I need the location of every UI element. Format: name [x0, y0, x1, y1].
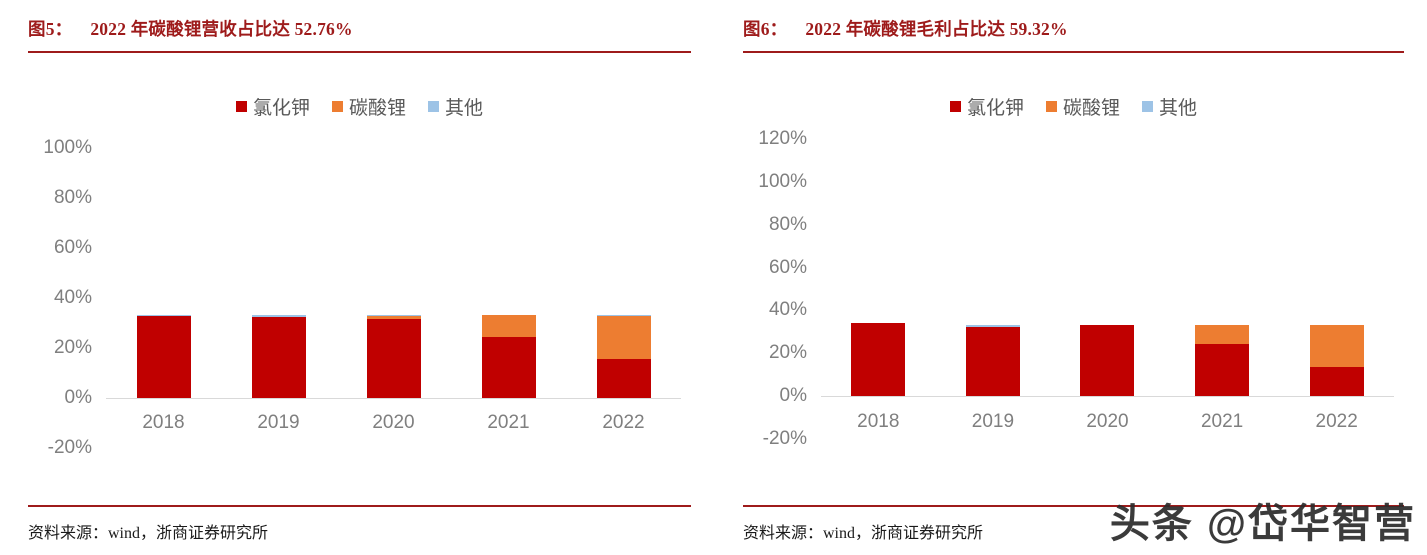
legend-label: 氯化钾 [967, 93, 1024, 120]
legend-item-other[interactable]: 其他 [428, 93, 483, 120]
bar-slot-2020 [1050, 133, 1165, 433]
bar-group [821, 133, 1394, 433]
bar-slot-2018 [821, 133, 936, 433]
figure-title: 2022 年碳酸锂营收占比达 52.76% [90, 16, 352, 41]
y-tick: 100% [43, 137, 92, 159]
bar-segment-kcl [1195, 344, 1249, 396]
chart-area: 氯化钾 碳酸锂 其他 120% 100% 80% 60% 40% [743, 53, 1404, 473]
bar-segment-kcl [851, 323, 905, 396]
legend-item-other[interactable]: 其他 [1142, 93, 1197, 120]
y-tick: 100% [758, 171, 807, 193]
bar-segment-lico3 [367, 316, 421, 319]
figure-label: 图5： [28, 16, 72, 41]
y-tick: 0% [65, 387, 92, 409]
figure-label: 图6： [743, 16, 787, 41]
legend-swatch-blue [428, 101, 439, 112]
y-tick: 120% [758, 128, 807, 150]
bar-segment-other [367, 315, 421, 317]
y-tick: 60% [54, 237, 92, 259]
plot-area: 100% 80% 60% 40% 20% 0% -20% [28, 133, 691, 433]
y-tick: 20% [769, 342, 807, 364]
x-tick: 2021 [1165, 411, 1280, 433]
figures-page: 图5： 2022 年碳酸锂营收占比达 52.76% 氯化钾 碳酸锂 其他 [0, 0, 1427, 555]
y-tick: 20% [54, 337, 92, 359]
bar-segment-other [137, 315, 191, 316]
bar-segment-lico3 [1195, 325, 1249, 344]
x-tick: 2021 [451, 412, 566, 434]
legend-label: 碳酸锂 [349, 93, 406, 120]
source-note: 资料来源：wind，浙商证券研究所 [743, 519, 983, 543]
bar-segment-other [966, 325, 1020, 326]
bar-segment-kcl [482, 337, 536, 398]
bar-segment-kcl [367, 319, 421, 398]
source-note: 资料来源：wind，浙商证券研究所 [28, 519, 268, 543]
y-axis: 120% 100% 80% 60% 40% 20% 0% -20% [743, 133, 815, 433]
bar-slot-2020 [336, 133, 451, 433]
chart-legend: 氯化钾 碳酸锂 其他 [28, 53, 691, 119]
bar-slot-2018 [106, 133, 221, 433]
source-divider [28, 505, 691, 507]
bar-slot-2021 [1165, 133, 1280, 433]
x-tick: 2022 [566, 412, 681, 434]
bar-segment-lico3 [482, 315, 536, 337]
bar-segment-lico3 [1310, 325, 1364, 367]
legend-item-lithium-carbonate[interactable]: 碳酸锂 [332, 93, 406, 120]
bar-slot-2021 [451, 133, 566, 433]
bar-slot-2019 [221, 133, 336, 433]
y-tick: -20% [763, 428, 807, 450]
legend-item-lithium-carbonate[interactable]: 碳酸锂 [1046, 93, 1120, 120]
watermark: 头条 @岱华智营 [1110, 491, 1416, 549]
bar-segment-kcl [597, 359, 651, 398]
y-axis: 100% 80% 60% 40% 20% 0% -20% [28, 133, 100, 433]
x-tick: 2018 [106, 412, 221, 434]
bar-segment-kcl [1310, 367, 1364, 396]
x-axis: 2018 2019 2020 2021 2022 [821, 411, 1394, 433]
bar-segment-other [252, 315, 306, 317]
legend-label: 氯化钾 [253, 93, 310, 120]
bar-segment-kcl [966, 327, 1020, 397]
figure-title: 2022 年碳酸锂毛利占比达 59.32% [805, 16, 1067, 41]
legend-label: 碳酸锂 [1063, 93, 1120, 120]
legend-swatch-red [950, 101, 961, 112]
legend-item-kcl[interactable]: 氯化钾 [950, 93, 1024, 120]
bar-segment-kcl [252, 317, 306, 398]
bar-segment-kcl [1080, 325, 1134, 396]
legend-swatch-blue [1142, 101, 1153, 112]
legend-item-kcl[interactable]: 氯化钾 [236, 93, 310, 120]
figure-caption: 图6： 2022 年碳酸锂毛利占比达 59.32% [743, 0, 1404, 41]
y-tick: 80% [54, 187, 92, 209]
chart-area: 氯化钾 碳酸锂 其他 100% 80% 60% 40% 20% [28, 53, 691, 473]
y-tick: 80% [769, 214, 807, 236]
legend-swatch-orange [1046, 101, 1057, 112]
x-tick: 2020 [1050, 411, 1165, 433]
x-tick: 2022 [1279, 411, 1394, 433]
plot-canvas [821, 133, 1394, 433]
x-tick: 2019 [936, 411, 1051, 433]
figure-panel-5: 图5： 2022 年碳酸锂营收占比达 52.76% 氯化钾 碳酸锂 其他 [0, 0, 713, 555]
y-tick: 60% [769, 257, 807, 279]
y-tick: 40% [769, 299, 807, 321]
legend-swatch-orange [332, 101, 343, 112]
bar-slot-2022 [1279, 133, 1394, 433]
y-tick: -20% [48, 437, 92, 459]
bar-segment-lico3 [597, 315, 651, 359]
chart-legend: 氯化钾 碳酸锂 其他 [743, 53, 1404, 119]
legend-label: 其他 [1159, 93, 1197, 120]
plot-canvas [106, 133, 681, 433]
y-tick: 40% [54, 287, 92, 309]
bar-segment-kcl [137, 315, 191, 398]
figure-caption: 图5： 2022 年碳酸锂营收占比达 52.76% [28, 0, 691, 41]
y-tick: 0% [780, 385, 807, 407]
plot-area: 120% 100% 80% 60% 40% 20% 0% -20% [743, 133, 1404, 433]
figure-panel-6: 图6： 2022 年碳酸锂毛利占比达 59.32% 氯化钾 碳酸锂 其他 [713, 0, 1426, 555]
bar-group [106, 133, 681, 433]
bar-slot-2019 [936, 133, 1051, 433]
legend-label: 其他 [445, 93, 483, 120]
x-tick: 2019 [221, 412, 336, 434]
bar-slot-2022 [566, 133, 681, 433]
x-tick: 2020 [336, 412, 451, 434]
x-axis: 2018 2019 2020 2021 2022 [106, 412, 681, 434]
legend-swatch-red [236, 101, 247, 112]
x-tick: 2018 [821, 411, 936, 433]
